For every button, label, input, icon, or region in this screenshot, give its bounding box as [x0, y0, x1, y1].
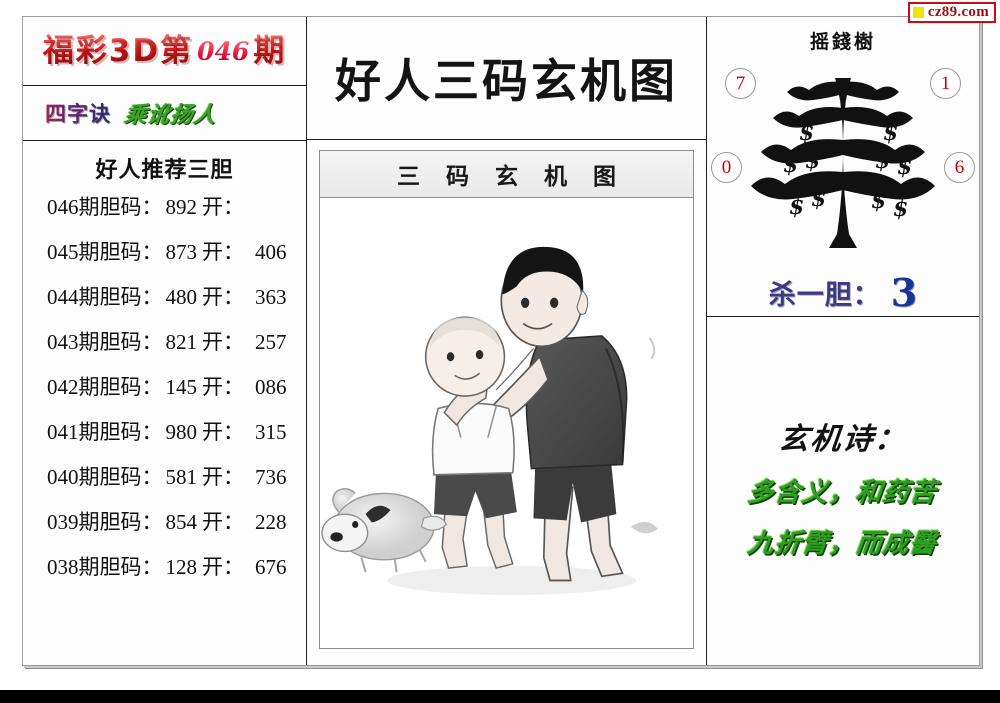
recommend-row: 042期胆码：145开：086 — [23, 371, 306, 416]
recommend-row: 046期胆码：892开： — [23, 191, 306, 236]
svg-text:$: $ — [799, 120, 814, 146]
picture-box: 三 码 玄 机 图 — [319, 150, 694, 649]
recommend-list: 046期胆码：892开：045期胆码：873开：406044期胆码：480开：3… — [23, 189, 306, 665]
row-issue: 046 — [47, 195, 79, 220]
svg-text:$: $ — [789, 194, 804, 220]
tree-number-top-left: 7 — [725, 68, 756, 99]
recommend-row: 044期胆码：480开：363 — [23, 281, 306, 326]
row-issue: 042 — [47, 375, 79, 400]
row-dan-value: 581 — [163, 465, 200, 490]
row-dan-label: 期胆码： — [79, 371, 163, 401]
row-open-label: 开： — [199, 191, 244, 221]
row-dan-value: 821 — [163, 330, 200, 355]
svg-text:$: $ — [805, 148, 820, 174]
row-dan-label: 期胆码： — [79, 416, 163, 446]
watermark-text: cz89.com — [928, 4, 989, 20]
recommend-row: 040期胆码：581开：736 — [23, 461, 306, 506]
row-issue: 043 — [47, 330, 79, 355]
row-dan-value: 980 — [163, 420, 200, 445]
row-open-value: 086 — [244, 375, 287, 400]
row-dan-value: 873 — [163, 240, 200, 265]
row-dan-label: 期胆码： — [79, 281, 163, 311]
yellow-square-icon — [913, 7, 924, 18]
row-open-label: 开： — [199, 506, 244, 536]
row-issue: 039 — [47, 510, 79, 535]
recommend-title: 好人推荐三胆 — [23, 141, 306, 189]
kill-one-dan-row: 杀一胆： 3 — [707, 273, 979, 312]
row-open-value: 406 — [244, 240, 287, 265]
motto-label: 四字诀 — [45, 98, 111, 128]
row-issue: 040 — [47, 465, 79, 490]
kill-value: 3 — [891, 275, 917, 311]
recommend-row: 039期胆码：854开：228 — [23, 506, 306, 551]
row-dan-label: 期胆码： — [79, 236, 163, 266]
issue-banner: 福彩3D第 046 期 — [23, 17, 306, 86]
motto-row: 四字诀 乘讹扬人 — [23, 86, 306, 141]
left-column: 福彩3D第 046 期 四字诀 乘讹扬人 好人推荐三胆 046期胆码：892开：… — [23, 17, 307, 665]
row-open-label: 开： — [199, 236, 244, 266]
issue-prefix: 福彩3D第 — [43, 34, 193, 68]
row-open-value: 257 — [244, 330, 287, 355]
svg-text:$: $ — [893, 196, 908, 222]
middle-column: 好人三码玄机图 三 码 玄 机 图 — [307, 17, 707, 665]
row-open-label: 开： — [199, 326, 244, 356]
row-dan-label: 期胆码： — [79, 506, 163, 536]
boy-helping-toddler-with-dog-sketch — [320, 198, 693, 648]
row-open-label: 开： — [199, 371, 244, 401]
picture-caption: 三 码 玄 机 图 — [320, 151, 693, 198]
poem-line-2: 九折臂，而成醫 — [746, 523, 940, 560]
svg-text:$: $ — [811, 186, 826, 212]
svg-text:$: $ — [875, 148, 890, 174]
svg-text:$: $ — [897, 154, 912, 180]
money-tree-title: 摇錢樹 — [810, 27, 876, 54]
issue-suffix: 期 — [253, 34, 286, 68]
kill-label: 杀一胆： — [769, 273, 881, 312]
row-open-value: 736 — [244, 465, 287, 490]
tree-number-top-right: 1 — [930, 68, 961, 99]
row-open-label: 开： — [199, 281, 244, 311]
row-dan-value: 892 — [163, 195, 200, 220]
row-dan-value: 145 — [163, 375, 200, 400]
issue-number: 046 — [193, 37, 253, 66]
site-watermark: cz89.com — [908, 2, 996, 23]
row-open-value: 363 — [244, 285, 287, 310]
svg-text:$: $ — [871, 188, 886, 214]
bottom-strip — [0, 690, 1000, 703]
recommend-row: 045期胆码：873开：406 — [23, 236, 306, 281]
row-dan-value: 480 — [163, 285, 200, 310]
row-dan-label: 期胆码： — [79, 326, 163, 356]
row-open-value: 315 — [244, 420, 287, 445]
poem-panel: 玄机诗： 多含义，和药苦 九折臂，而成醫 — [707, 317, 979, 665]
tree-number-bottom-left: 0 — [711, 152, 742, 183]
row-dan-value: 854 — [163, 510, 200, 535]
row-issue: 041 — [47, 420, 79, 445]
svg-text:$: $ — [783, 152, 798, 178]
recommend-row: 043期胆码：821开：257 — [23, 326, 306, 371]
poster-frame: 福彩3D第 046 期 四字诀 乘讹扬人 好人推荐三胆 046期胆码：892开：… — [22, 16, 980, 666]
row-dan-label: 期胆码： — [79, 551, 163, 581]
motto-calligraphy: 乘讹扬人 — [123, 97, 220, 129]
poem-line-1: 多含义，和药苦 — [746, 472, 940, 509]
illustration — [320, 198, 693, 648]
row-issue: 045 — [47, 240, 79, 265]
row-open-label: 开： — [199, 551, 244, 581]
recommend-row: 038期胆码：128开：676 — [23, 551, 306, 596]
row-open-label: 开： — [199, 416, 244, 446]
row-dan-label: 期胆码： — [79, 461, 163, 491]
page-title: 好人三码玄机图 — [307, 17, 706, 140]
tree-number-bottom-right: 6 — [944, 152, 975, 183]
right-column: 摇錢樹 $ — [707, 17, 979, 665]
money-tree-icon: $ $ $ $ $ $ $ $ $ $ — [743, 56, 943, 256]
svg-text:$: $ — [883, 120, 898, 146]
page-title-text: 好人三码玄机图 — [335, 45, 678, 111]
row-dan-value: 128 — [163, 555, 200, 580]
money-tree-panel: 摇錢樹 $ — [707, 17, 979, 317]
recommend-row: 041期胆码：980开：315 — [23, 416, 306, 461]
row-open-label: 开： — [199, 461, 244, 491]
row-issue: 038 — [47, 555, 79, 580]
row-issue: 044 — [47, 285, 79, 310]
row-dan-label: 期胆码： — [79, 191, 163, 221]
picture-wrapper: 三 码 玄 机 图 — [307, 140, 706, 665]
row-open-value: 228 — [244, 510, 287, 535]
poem-heading: 玄机诗： — [777, 414, 910, 458]
row-open-value: 676 — [244, 555, 287, 580]
